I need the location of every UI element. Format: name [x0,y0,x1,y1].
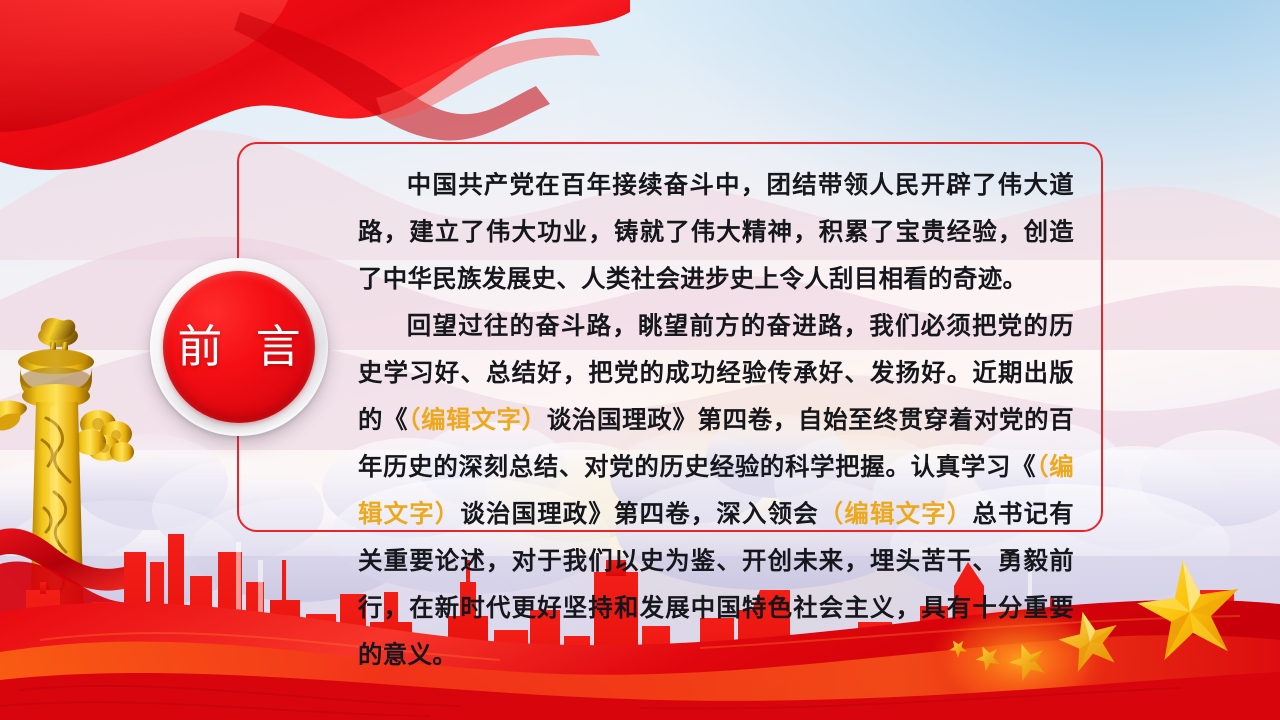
slide-root: 中国共产党在百年接续奋斗中，团结带领人民开辟了伟大道路，建立了伟大功业，铸就了伟… [0,0,1280,720]
paragraph-2-highlight-3: （编辑文字） [819,501,973,528]
paragraph-1-text: 中国共产党在百年接续奋斗中，团结带领人民开辟了伟大道路，建立了伟大功业，铸就了伟… [358,172,1074,293]
seal-red-disc: 前 言 [163,271,315,423]
seal-label: 前 言 [166,325,311,370]
paragraph-1: 中国共产党在百年接续奋斗中，团结带领人民开辟了伟大道路，建立了伟大功业，铸就了伟… [358,162,1074,303]
paragraph-2: 回望过往的奋斗路，眺望前方的奋进路，我们必须把党的历史学习好、总结好，把党的成功… [358,303,1074,679]
paragraph-2-run-3: 谈治国理政》第四卷，深入领会 [460,501,818,528]
content-panel-body: 中国共产党在百年接续奋斗中，团结带领人民开辟了伟大道路，建立了伟大功业，铸就了伟… [262,152,1090,524]
paragraph-2-highlight-1: （编辑文字） [408,407,547,434]
preface-seal-badge: 前 言 [150,258,328,436]
